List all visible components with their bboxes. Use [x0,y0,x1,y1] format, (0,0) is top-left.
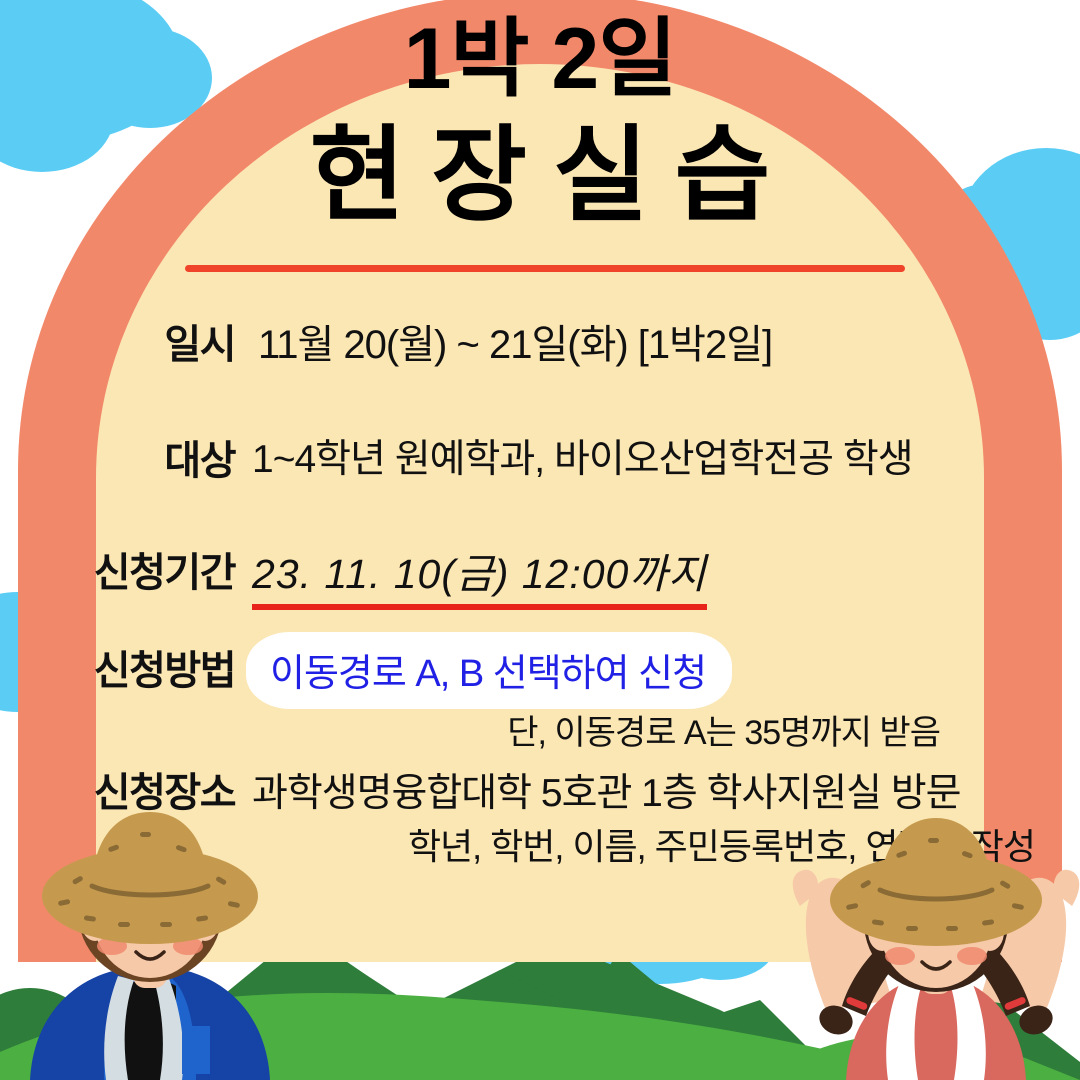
characters-illustration [0,0,1080,1080]
girl-farmer-illustration [793,818,1079,1080]
straw-hat-icon [830,818,1042,946]
boy-farmer-illustration [30,812,270,1080]
straw-hat-icon [42,812,258,944]
poster-root: 1박 2일 현장실습 일시 11월 20(월) ~ 21일(화) [1박2일] … [0,0,1080,1080]
